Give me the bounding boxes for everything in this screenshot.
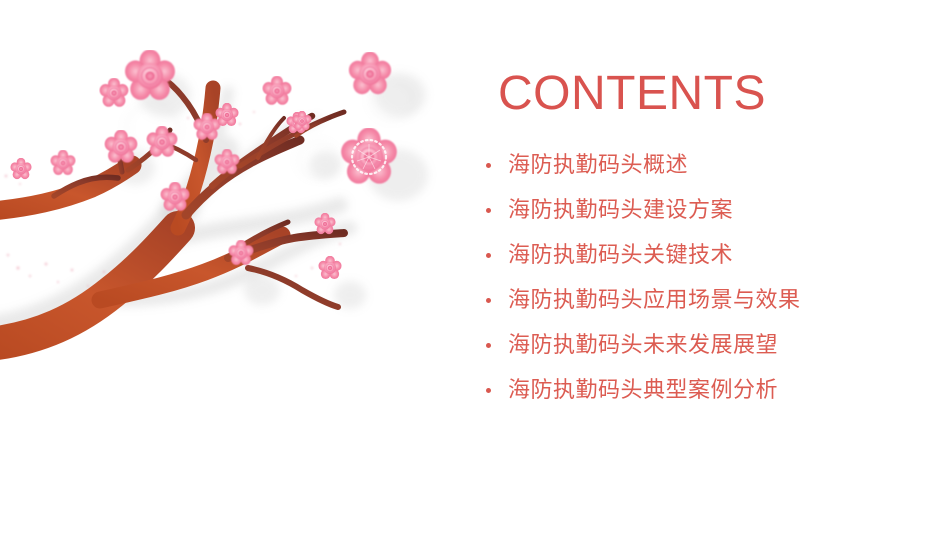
list-item[interactable]: 海防执勤码头建设方案	[470, 188, 950, 233]
plum-blossom-branch-illustration	[0, 0, 450, 400]
bullet-icon	[486, 298, 491, 303]
bullet-icon	[486, 253, 491, 258]
blossom-group	[10, 49, 341, 279]
list-item-label: 海防执勤码头概述	[508, 151, 688, 181]
blossom-icon	[125, 49, 175, 99]
list-item-label: 海防执勤码头典型案例分析	[508, 376, 778, 406]
list-item-label: 海防执勤码头建设方案	[508, 196, 733, 226]
list-item[interactable]: 海防执勤码头关键技术	[470, 233, 950, 278]
tree-trunk	[0, 88, 282, 345]
list-item[interactable]: 海防执勤码头未来发展展望	[470, 323, 950, 368]
floating-blossom-group	[341, 52, 397, 184]
blossom-icon	[292, 111, 311, 130]
list-item[interactable]: 海防执勤码头概述	[470, 143, 950, 188]
list-item-label: 海防执勤码头关键技术	[508, 241, 733, 271]
list-item-label: 海防执勤码头应用场景与效果	[508, 286, 801, 316]
table-of-contents-list: 海防执勤码头概述 海防执勤码头建设方案 海防执勤码头关键技术 海防执勤码头应用场…	[470, 143, 950, 413]
blossom-icon	[161, 182, 190, 211]
blossom-icon	[194, 113, 221, 140]
petal-speckles	[5, 111, 342, 287]
blossom-icon	[263, 76, 292, 105]
blossom-icon	[286, 112, 307, 133]
blossom-icon	[318, 256, 341, 279]
bullet-icon	[486, 163, 491, 168]
blossom-icon	[215, 149, 240, 174]
blossom-icon	[100, 78, 129, 107]
slide-canvas: CONTENTS 海防执勤码头概述 海防执勤码头建设方案 海防执勤码头关键技术 …	[0, 0, 950, 535]
blossom-icon	[229, 240, 254, 265]
branch-shadow-group	[0, 80, 414, 330]
tree-branches	[54, 76, 344, 307]
floating-blossom-icon	[349, 52, 391, 95]
list-item[interactable]: 海防执勤码头应用场景与效果	[470, 278, 950, 323]
blossom-icon	[105, 130, 138, 163]
floating-blossom-large-icon	[341, 127, 397, 183]
contents-panel: CONTENTS 海防执勤码头概述 海防执勤码头建设方案 海防执勤码头关键技术 …	[470, 0, 950, 535]
list-item-label: 海防执勤码头未来发展展望	[508, 331, 778, 361]
blossom-shadow-group	[115, 73, 428, 309]
blossom-icon	[10, 158, 31, 179]
blossom-icon	[215, 103, 238, 126]
page-title: CONTENTS	[498, 66, 766, 122]
blossom-icon	[314, 213, 335, 234]
blossom-icon	[51, 150, 76, 175]
blossom-icon	[147, 126, 178, 157]
list-item[interactable]: 海防执勤码头典型案例分析	[470, 368, 950, 413]
bullet-icon	[486, 208, 491, 213]
bullet-icon	[486, 388, 491, 393]
bullet-icon	[486, 343, 491, 348]
